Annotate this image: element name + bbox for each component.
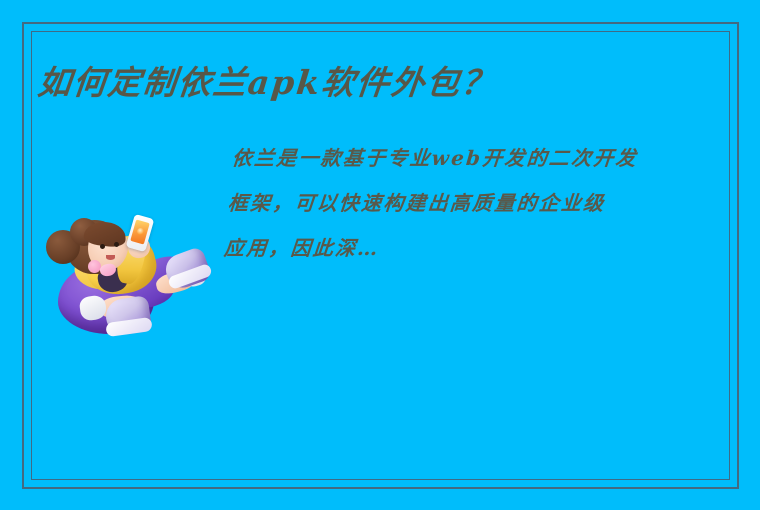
poster-canvas: 如何定制依兰apk软件外包？ 依兰是一款基于专业web开发的二次开发 框架，可以… — [0, 0, 760, 510]
body-copy: 依兰是一款基于专业web开发的二次开发 框架，可以快速构建出高质量的企业级 应用… — [222, 136, 654, 271]
page-title: 如何定制依兰apk软件外包？ — [36, 62, 600, 103]
girl-with-phone-illustration — [44, 212, 220, 340]
figure-eye-left — [100, 244, 105, 249]
figure-mouth — [106, 255, 115, 260]
body-line-3: 应用，因此深… — [222, 226, 646, 271]
figure-eye-right — [114, 242, 119, 247]
body-line-1: 依兰是一款基于专业web开发的二次开发 — [230, 136, 654, 181]
body-line-2: 框架，可以快速构建出高质量的企业级 — [226, 181, 650, 226]
